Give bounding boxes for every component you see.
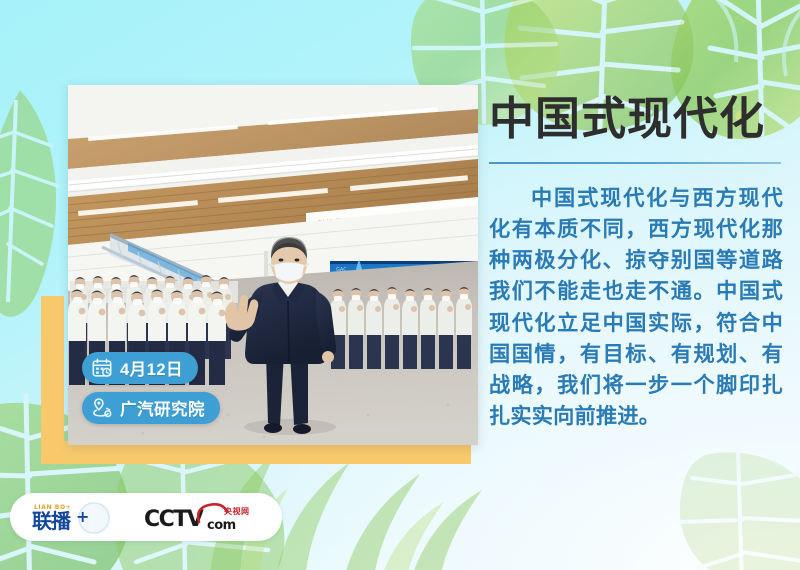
cctv-cn-text: 央视网	[224, 506, 250, 516]
cctv-wordmark: CCTV	[144, 507, 204, 532]
title-divider	[489, 162, 781, 164]
bracket-vertical-bar	[41, 296, 64, 464]
leaf-right-bottom	[650, 440, 800, 570]
calendar-icon	[91, 357, 113, 379]
cctv-com-text: com	[207, 518, 236, 532]
footer-logo-bar: LIAN BO+ 联播 + CCTV com 央视网	[10, 493, 282, 541]
location-badge[interactable]: 广汽研究院	[82, 392, 220, 424]
page-title: 中国式现代化	[489, 96, 783, 143]
article-quote: 中国式现代化与西方现代化有本质不同，西方现代化那种两极分化、掠夺别国等道路我们不…	[489, 183, 783, 432]
lianbo-logo[interactable]: LIAN BO+ 联播 +	[32, 500, 118, 534]
photo-badges: 4月12日 广汽研究院	[82, 352, 220, 432]
lianbo-plus: +	[76, 507, 89, 526]
lianbo-wordmark: 联播	[32, 509, 72, 533]
article-column: 中国式现代化 中国式现代化与西方现代化有本质不同，西方现代化那种两极分化、掠夺别…	[489, 96, 783, 432]
location-badge-label: 广汽研究院	[120, 396, 205, 420]
location-route-icon	[91, 397, 113, 419]
date-badge-label: 4月12日	[120, 356, 183, 380]
date-badge[interactable]: 4月12日	[82, 352, 198, 384]
cctv-logo[interactable]: CCTV com 央视网	[144, 502, 252, 532]
